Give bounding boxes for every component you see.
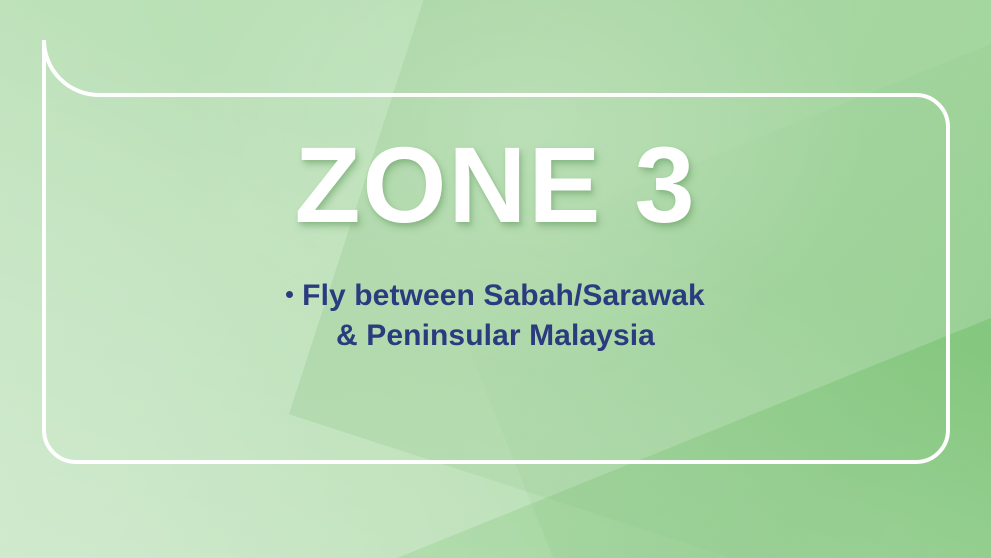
card-subtitle: Fly between Sabah/Sarawak & Peninsular M… [0, 276, 991, 356]
subtitle-line-1-text: Fly between Sabah/Sarawak [302, 279, 705, 312]
subtitle-line-1: Fly between Sabah/Sarawak [0, 276, 991, 316]
page-title: ZONE 3 [0, 131, 991, 239]
subtitle-line-2: & Peninsular Malaysia [0, 316, 991, 356]
card-content: ZONE 3 Fly between Sabah/Sarawak & Penin… [0, 0, 991, 558]
zone-card: ZONE 3 Fly between Sabah/Sarawak & Penin… [0, 0, 991, 558]
bullet-icon [286, 291, 293, 298]
